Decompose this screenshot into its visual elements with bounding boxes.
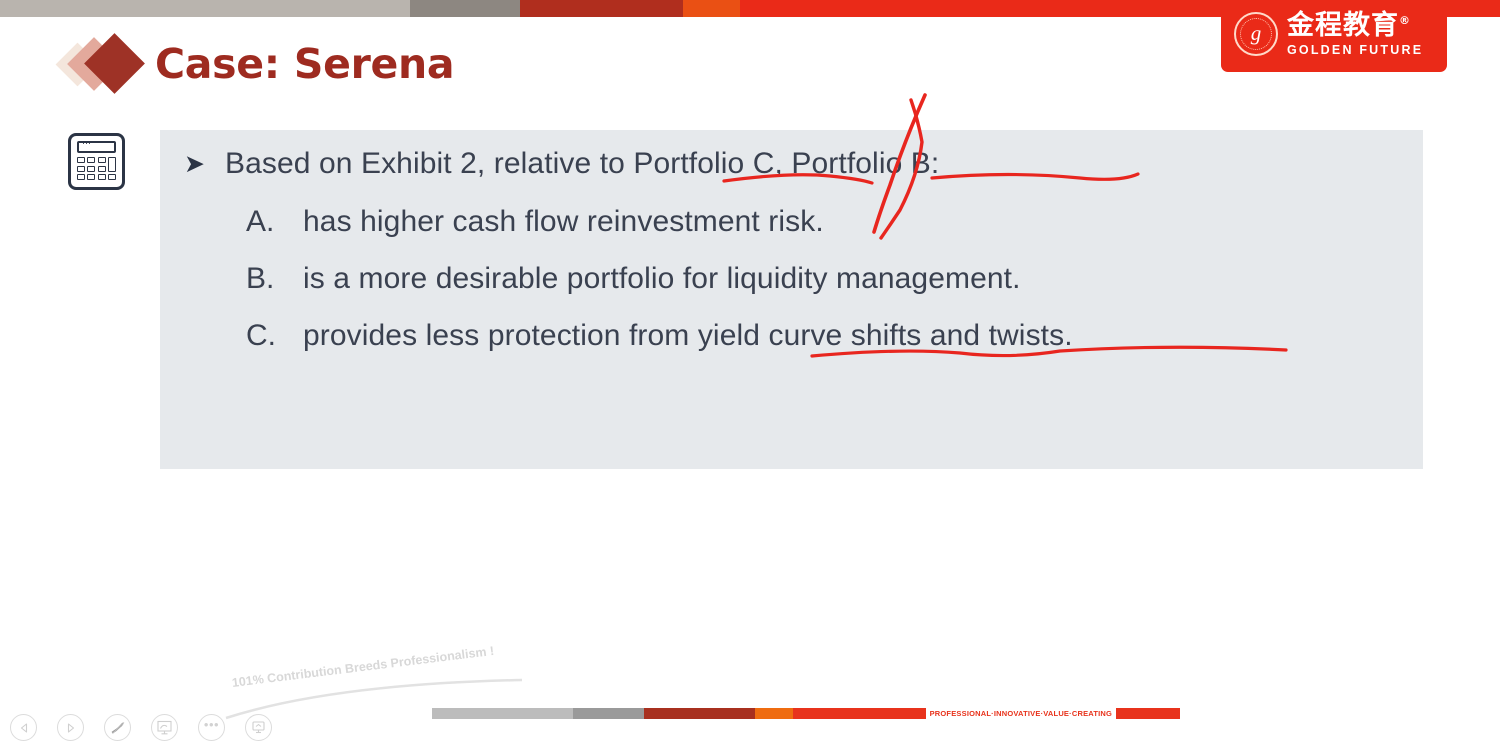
answer-option-b[interactable]: B. is a more desirable portfolio for liq… — [246, 262, 1073, 296]
option-label: C. — [246, 319, 303, 353]
question-line: ➤ Based on Exhibit 2, relative to Portfo… — [184, 146, 939, 182]
player-toolbar: ••• — [10, 714, 272, 741]
top-ribbon-segment-dark-red — [520, 0, 683, 17]
annotate-pen-button[interactable] — [104, 714, 131, 741]
projector-button[interactable] — [151, 714, 178, 741]
option-label: A. — [246, 205, 303, 239]
brand-name-en: GOLDEN FUTURE — [1287, 44, 1423, 57]
page-title: Case: Serena — [155, 40, 454, 88]
option-text: has higher cash flow reinvestment risk. — [303, 205, 824, 239]
pen-icon — [109, 719, 127, 737]
more-options-button[interactable]: ••• — [198, 714, 225, 741]
footer-segment-light-gray — [432, 708, 573, 719]
calculator-keys — [77, 157, 116, 180]
screen-share-icon — [250, 719, 267, 736]
footer-segment-red — [793, 708, 926, 719]
previous-slide-button[interactable] — [10, 714, 37, 741]
triangle-left-icon — [18, 722, 30, 734]
calculator-key — [77, 166, 85, 172]
footer-segment-mid-gray — [573, 708, 644, 719]
option-text: provides less protection from yield curv… — [303, 319, 1073, 353]
option-text: is a more desirable portfolio for liquid… — [303, 262, 1021, 296]
slide-viewer: g 金程教育® GOLDEN FUTURE Case: Serena — [0, 0, 1500, 750]
question-panel: ➤ Based on Exhibit 2, relative to Portfo… — [160, 130, 1423, 469]
seal-monogram: g — [1251, 23, 1262, 44]
diamond-logo-icon — [60, 33, 146, 95]
calculator-key — [108, 174, 116, 180]
footer-segment-dark-red — [644, 708, 755, 719]
calculator-key — [98, 157, 106, 163]
brand-logo-plate: g 金程教育® GOLDEN FUTURE — [1221, 0, 1447, 72]
answer-option-c[interactable]: C. provides less protection from yield c… — [246, 319, 1073, 353]
brand-text: 金程教育® GOLDEN FUTURE — [1287, 12, 1423, 57]
calculator-key — [87, 157, 95, 163]
footer-ribbon: PROFESSIONAL·INNOVATIVE·VALUE·CREATING — [432, 708, 1180, 719]
calculator-display — [77, 141, 116, 153]
ellipsis-icon: ••• — [204, 718, 219, 731]
question-text: Based on Exhibit 2, relative to Portfoli… — [225, 146, 939, 182]
footer-segment-red-end — [1116, 708, 1180, 719]
calculator-icon — [68, 133, 125, 190]
next-slide-button[interactable] — [57, 714, 84, 741]
brand-name-cn: 金程教育® — [1287, 12, 1423, 39]
screen-share-button[interactable] — [245, 714, 272, 741]
calculator-key — [108, 157, 116, 172]
answer-options: A. has higher cash flow reinvestment ris… — [246, 205, 1073, 376]
top-ribbon-segment-dark-gray — [410, 0, 520, 17]
option-label: B. — [246, 262, 303, 296]
registered-mark: ® — [1399, 14, 1411, 27]
calculator-key — [77, 174, 85, 180]
golden-future-seal-icon: g — [1234, 12, 1278, 56]
footer-tagline: PROFESSIONAL·INNOVATIVE·VALUE·CREATING — [926, 709, 1116, 718]
projector-icon — [156, 719, 173, 736]
triangle-right-icon — [65, 722, 77, 734]
footer-segment-orange — [755, 708, 793, 719]
answer-option-a[interactable]: A. has higher cash flow reinvestment ris… — [246, 205, 1073, 239]
calculator-key — [98, 166, 106, 172]
top-ribbon-segment-light-gray — [0, 0, 410, 17]
calculator-key — [87, 174, 95, 180]
calculator-key — [87, 166, 95, 172]
calculator-key — [98, 174, 106, 180]
calculator-key — [77, 157, 85, 163]
arrow-bullet-icon: ➤ — [184, 152, 205, 177]
top-ribbon-segment-orange — [683, 0, 740, 17]
